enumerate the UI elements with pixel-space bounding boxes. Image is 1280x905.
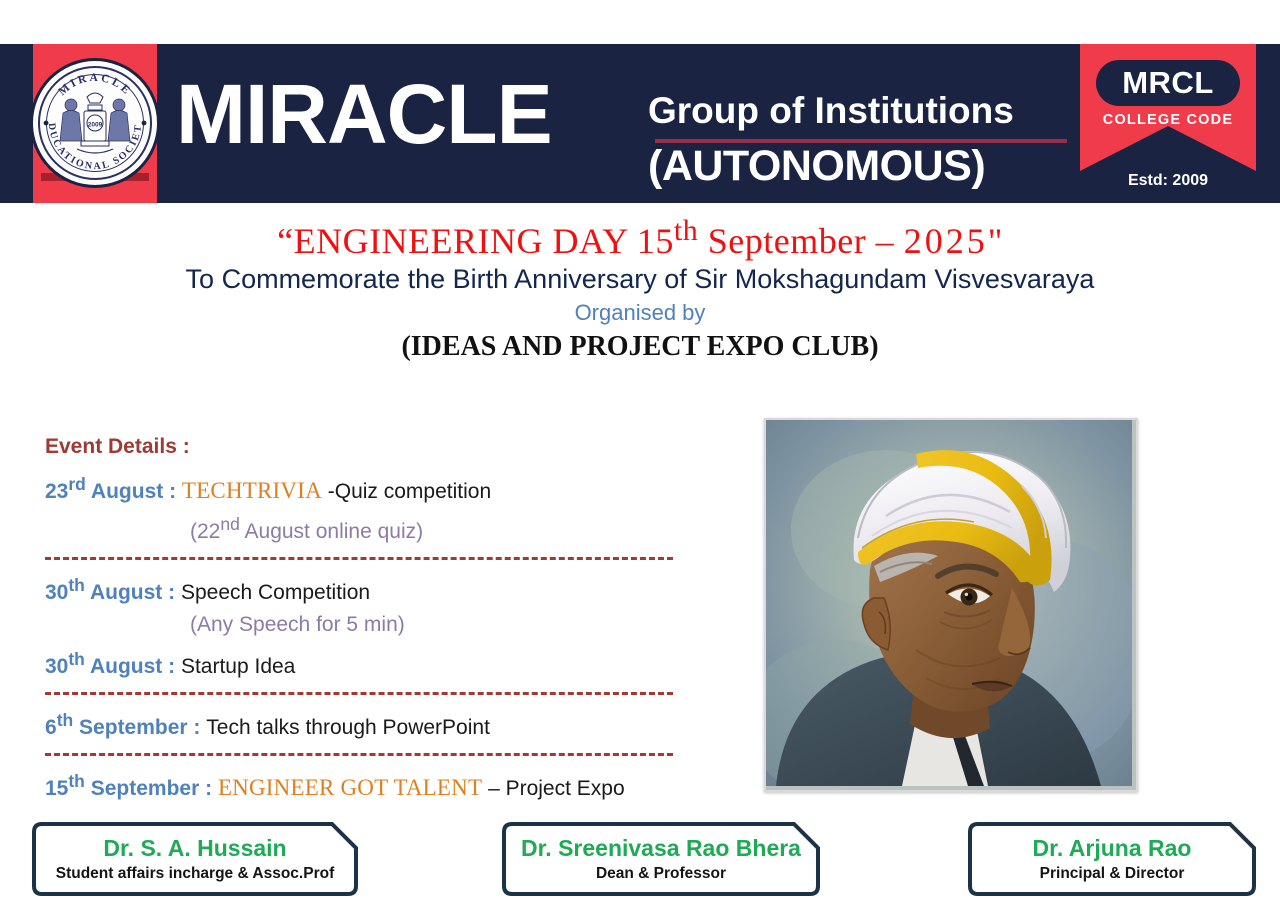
signatory-role: Dean & Professor: [596, 863, 726, 885]
signatory-name: Dr. Arjuna Rao: [1033, 833, 1192, 863]
event-colon: :: [163, 480, 182, 503]
event-details-section: Event Details : 23rd August : TECHTRIVIA…: [45, 435, 685, 805]
brand-name-miracle: MIRACLE: [176, 72, 552, 156]
title-main-month: September –: [698, 221, 903, 261]
event-details-heading: Event Details :: [45, 435, 685, 459]
college-code-ribbon: MRCL COLLEGE CODE Estd: 2009: [1080, 44, 1256, 203]
event-date: 6: [45, 716, 57, 739]
event-note-open: (Any Speech for 5 min): [190, 613, 405, 636]
event-description: -Quiz competition: [322, 480, 491, 503]
portrait-svg: [766, 420, 1132, 786]
institution-header-banner: MIRACLE EDUCATIONAL SOCIETY: [0, 44, 1280, 203]
event-colon: :: [162, 655, 181, 678]
brand-group-of-institutions: Group of Institutions: [648, 92, 1014, 129]
event-month: September: [73, 716, 187, 739]
poster-page: MIRACLE EDUCATIONAL SOCIETY: [0, 0, 1280, 905]
event-month: August: [86, 480, 163, 503]
signatory-box: Dr. Sreenivasa Rao Bhera Dean & Professo…: [500, 820, 822, 898]
title-main-ordinal: th: [674, 214, 698, 247]
visvesvaraya-portrait-image: [764, 418, 1138, 792]
event-separator: [45, 753, 673, 756]
event-date-ordinal: th: [68, 771, 85, 791]
event-highlight-title: ENGINEER GOT TALENT: [218, 775, 482, 800]
event-item-row: 15th September : ENGINEER GOT TALENT – P…: [45, 765, 685, 805]
svg-text:2009: 2009: [88, 122, 103, 129]
title-main-prefix: ENGINEERING DAY 15: [294, 221, 674, 261]
page-title: “ENGINEERING DAY 15th September – 2025": [0, 214, 1280, 262]
logo-svg-icon: MIRACLE EDUCATIONAL SOCIETY: [33, 61, 157, 185]
signatory-role: Student affairs incharge & Assoc.Prof: [56, 863, 335, 885]
event-item-row: 23rd August : TECHTRIVIA -Quiz competiti…: [45, 468, 685, 508]
event-item-row: 6th September : Tech talks through Power…: [45, 704, 685, 744]
event-highlight-title: TECHTRIVIA: [182, 478, 322, 503]
established-year-label: Estd: 2009: [1080, 172, 1256, 190]
event-item-row: 30th August : Startup Idea: [45, 643, 685, 683]
event-date-ordinal: th: [57, 710, 74, 730]
event-description: Speech Competition: [181, 581, 370, 604]
signatory-box: Dr. S. A. Hussain Student affairs inchar…: [30, 820, 360, 898]
event-description: Tech talks through PowerPoint: [206, 716, 490, 739]
signatory-name: Dr. S. A. Hussain: [103, 833, 286, 863]
event-note-ordinal: nd: [220, 514, 239, 534]
event-date-ordinal: th: [68, 649, 85, 669]
signatory-box: Dr. Arjuna Rao Principal & Director: [966, 820, 1258, 898]
commemoration-subtitle: To Commemorate the Birth Anniversary of …: [0, 264, 1280, 295]
organising-club-name: (IDEAS AND PROJECT EXPO CLUB): [0, 331, 1280, 363]
event-separator: [45, 692, 673, 695]
title-quote-close: ": [988, 221, 1003, 261]
event-date: 30: [45, 581, 68, 604]
event-month: August: [85, 581, 162, 604]
brand-autonomous-label: (AUTONOMOUS): [648, 145, 985, 188]
event-note-row: (22nd August online quiz): [45, 508, 685, 548]
event-colon: :: [188, 716, 207, 739]
event-note-row: (Any Speech for 5 min): [45, 609, 685, 641]
event-date-ordinal: th: [68, 575, 85, 595]
event-note-rest: August online quiz): [240, 520, 423, 543]
event-date-ordinal: rd: [68, 474, 86, 494]
college-code-text: MRCL: [1122, 65, 1214, 101]
event-date: 30: [45, 655, 68, 678]
event-month: September: [85, 777, 199, 800]
event-item-row: 30th August : Speech Competition: [45, 569, 685, 609]
event-description: – Project Expo: [482, 777, 624, 800]
event-date: 15: [45, 777, 68, 800]
title-quote-open: “: [277, 221, 293, 261]
event-note-open: (22: [190, 520, 220, 543]
event-date: 23: [45, 480, 68, 503]
college-code-label: COLLEGE CODE: [1080, 112, 1256, 128]
event-description: Startup Idea: [181, 655, 295, 678]
event-colon: :: [199, 777, 218, 800]
college-code-pill: MRCL: [1096, 60, 1240, 106]
title-main-year: 2025: [904, 221, 988, 261]
signatory-role: Principal & Director: [1040, 863, 1185, 885]
event-separator: [45, 557, 673, 560]
event-colon: :: [162, 581, 181, 604]
miracle-educational-society-logo-icon: MIRACLE EDUCATIONAL SOCIETY: [33, 61, 157, 185]
event-month: August: [85, 655, 162, 678]
signatory-name: Dr. Sreenivasa Rao Bhera: [521, 833, 801, 863]
organised-by-label: Organised by: [0, 300, 1280, 326]
